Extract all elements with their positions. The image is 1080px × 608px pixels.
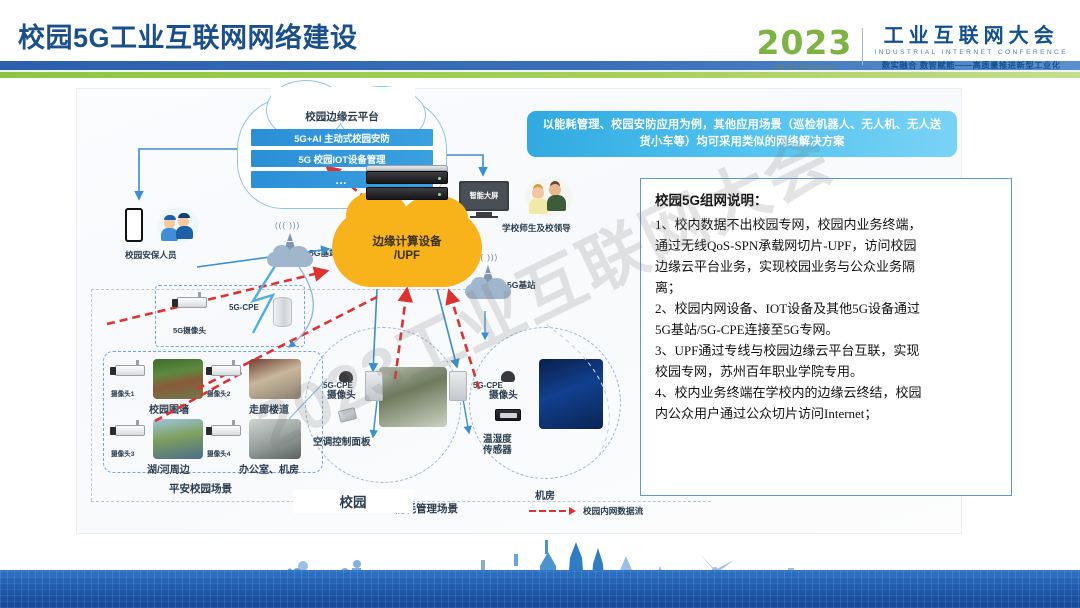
edge-compute-label-line2: /UPF xyxy=(394,250,420,262)
logo-date: 中国·苏州 8月14日-16日 xyxy=(757,64,853,71)
cloud-service-item-1: 5G+AI 主动式校园安防 xyxy=(251,129,433,146)
camera-1-lens xyxy=(110,367,116,375)
infobox-line-10: 内公众用户通过公众切片访问Internet； xyxy=(655,403,999,424)
logo-title-en: INDUSTRIAL INTERNET CONFERENCE xyxy=(874,49,1068,56)
cloud-platform-title: 校园边缘云平台 xyxy=(237,109,447,124)
camera-5g-mount xyxy=(198,292,201,298)
camera-3-mount xyxy=(136,420,139,426)
logo-title-cn: 工业互联网大会 xyxy=(874,26,1068,47)
camera-3-icon xyxy=(115,425,145,436)
bts-left-icon: ((( ))) xyxy=(267,227,313,267)
guard2-body xyxy=(176,226,193,239)
server-unit-2 xyxy=(366,187,448,200)
edge-compute-label-line1: 边缘计算设备 xyxy=(373,236,442,248)
camera-5g-body xyxy=(177,297,207,308)
camera-2-icon xyxy=(211,365,241,376)
camera-2-lens xyxy=(206,367,212,375)
infobox-line-3: 边缘云平台业务，实现校园业务与公众业务隔 xyxy=(655,256,999,277)
person1-body xyxy=(529,198,548,214)
slide-root: 校园5G工业互联网网络建设 2023 中国·苏州 8月14日-16日 工业互联网… xyxy=(0,0,1080,608)
header-rule-green xyxy=(0,72,1080,78)
security-guards-icon xyxy=(157,207,199,243)
page-title: 校园5G工业互联网网络建设 xyxy=(18,16,358,55)
legend-dash-line xyxy=(529,507,576,515)
logo-tagline: 数实融合 数智赋能——高质量推进新型工业化 xyxy=(874,59,1068,71)
legend-seg-2 xyxy=(539,510,546,513)
cpe-left-icon xyxy=(273,297,292,327)
edge-compute-node: 边缘计算设备 /UPF xyxy=(332,209,482,287)
camera-4-mount xyxy=(232,420,235,426)
smart-display-label: 智能大屏 xyxy=(470,191,499,201)
classroom-dome-camera-icon xyxy=(339,371,353,382)
logo-year-block: 2023 中国·苏州 8月14日-16日 xyxy=(757,26,863,71)
camera-1-body xyxy=(115,365,145,376)
infobox-line-1: 1、校内数据不出校园专网，校园内业务终端， xyxy=(655,214,999,235)
cpe-mid-icon xyxy=(365,371,383,401)
camera-5g-lens xyxy=(172,299,178,307)
cpe-right-icon xyxy=(449,371,467,401)
camera-4-icon xyxy=(211,425,241,436)
camera-3-lens xyxy=(110,427,116,435)
footer-sea-band xyxy=(0,570,1080,608)
camera-4-lens xyxy=(206,427,212,435)
edge-compute-label: 边缘计算设备 /UPF xyxy=(332,235,482,264)
bts-left-signal-icon: ((( ))) xyxy=(275,221,300,230)
legend-label: 校园内网数据流 xyxy=(583,505,643,517)
camera-2-body xyxy=(211,365,241,376)
infobox-line-8: 校园专网，苏州百年职业学院专用。 xyxy=(655,361,999,382)
infobox-line-9: 4、校内业务终端在学校内的边缘云终结，校园 xyxy=(655,382,999,403)
infobox-line-7: 3、UPF通过专线与校园边缘云平台互联，实现 xyxy=(655,340,999,361)
guard2-cap xyxy=(178,213,190,218)
legend-seg-1 xyxy=(529,510,536,513)
datacenter-dome-camera-icon xyxy=(501,371,515,382)
infobox-line-6: 5G基站/5G-CPE连接至5G专网。 xyxy=(655,319,999,340)
camera-1-icon xyxy=(115,365,145,376)
camera-1-mount xyxy=(136,360,139,366)
legend-arrow-icon xyxy=(569,507,576,515)
camera-5g-icon xyxy=(177,297,207,308)
infobox-line-2: 通过无线QoS-SPN承载网切片-UPF，访问校园 xyxy=(655,235,999,256)
footer-skyline xyxy=(0,532,1080,608)
smart-display-panel: 智能大屏 xyxy=(459,181,509,211)
temp-humidity-sensor-icon xyxy=(495,409,521,421)
infobox-title: 校园5G组网说明： xyxy=(655,189,999,209)
smartphone-icon xyxy=(125,208,143,242)
teachers-students-icon xyxy=(525,177,573,217)
camera-3-body xyxy=(115,425,145,436)
infobox-line-4: 离； xyxy=(655,277,999,298)
server-stack-icon xyxy=(366,165,448,203)
server-unit-1 xyxy=(366,171,448,184)
legend-data-flow: 校园内网数据流 xyxy=(529,505,643,517)
legend-seg-4 xyxy=(559,510,566,513)
camera-2-mount xyxy=(232,360,235,366)
bts-left-base xyxy=(267,252,313,267)
camera-4-body xyxy=(211,425,241,436)
logo-year: 2023 xyxy=(757,26,853,59)
guard1-cap xyxy=(164,215,176,220)
networking-description-box: 校园5G组网说明： 1、校内数据不出校园专网，校园内业务终端， 通过无线QoS-… xyxy=(640,178,1012,496)
infobox-line-5: 2、校园内网设备、IOT设备及其他5G设备通过 xyxy=(655,298,999,319)
conference-logo: 2023 中国·苏州 8月14日-16日 工业互联网大会 INDUSTRIAL … xyxy=(757,26,1069,71)
logo-text-block: 工业互联网大会 INDUSTRIAL INTERNET CONFERENCE 数… xyxy=(863,26,1068,71)
legend-seg-3 xyxy=(549,510,556,513)
person2-body xyxy=(547,195,566,211)
campus-plate: 校园 xyxy=(293,489,413,513)
